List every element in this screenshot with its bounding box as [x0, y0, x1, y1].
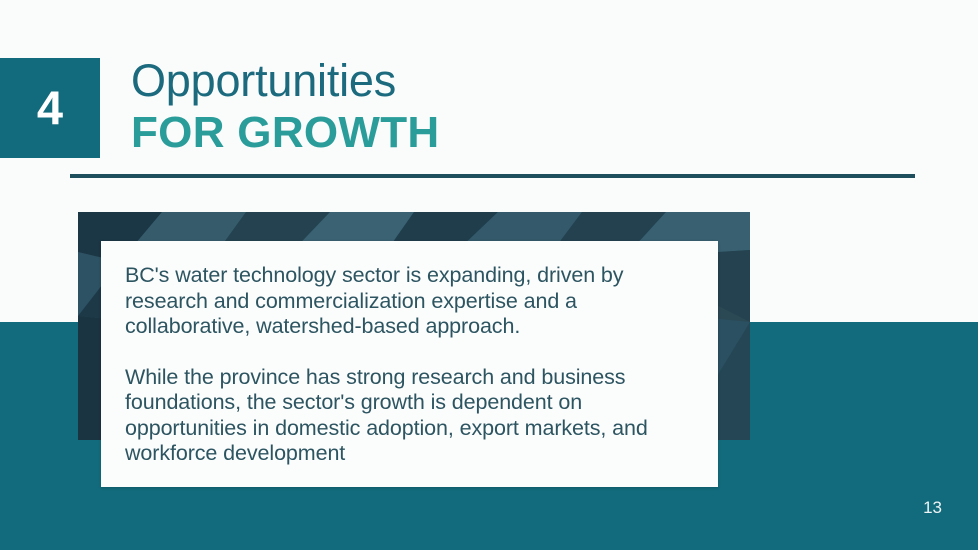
page-title-line-1: Opportunities [131, 54, 891, 107]
page-title: Opportunities FOR GROWTH [131, 54, 891, 159]
page-number: 13 [923, 499, 942, 516]
slide-canvas: 4 Opportunities FOR GROWTH [0, 0, 978, 550]
content-paragraph-1: BC's water technology sector is expandin… [125, 263, 690, 340]
section-number-badge: 4 [0, 58, 100, 158]
title-divider [70, 174, 915, 178]
page-title-line-2: FOR GROWTH [131, 107, 891, 159]
content-card: BC's water technology sector is expandin… [101, 241, 718, 487]
section-number-badge-value: 4 [37, 84, 63, 131]
content-paragraph-2: While the province has strong research a… [125, 365, 690, 467]
